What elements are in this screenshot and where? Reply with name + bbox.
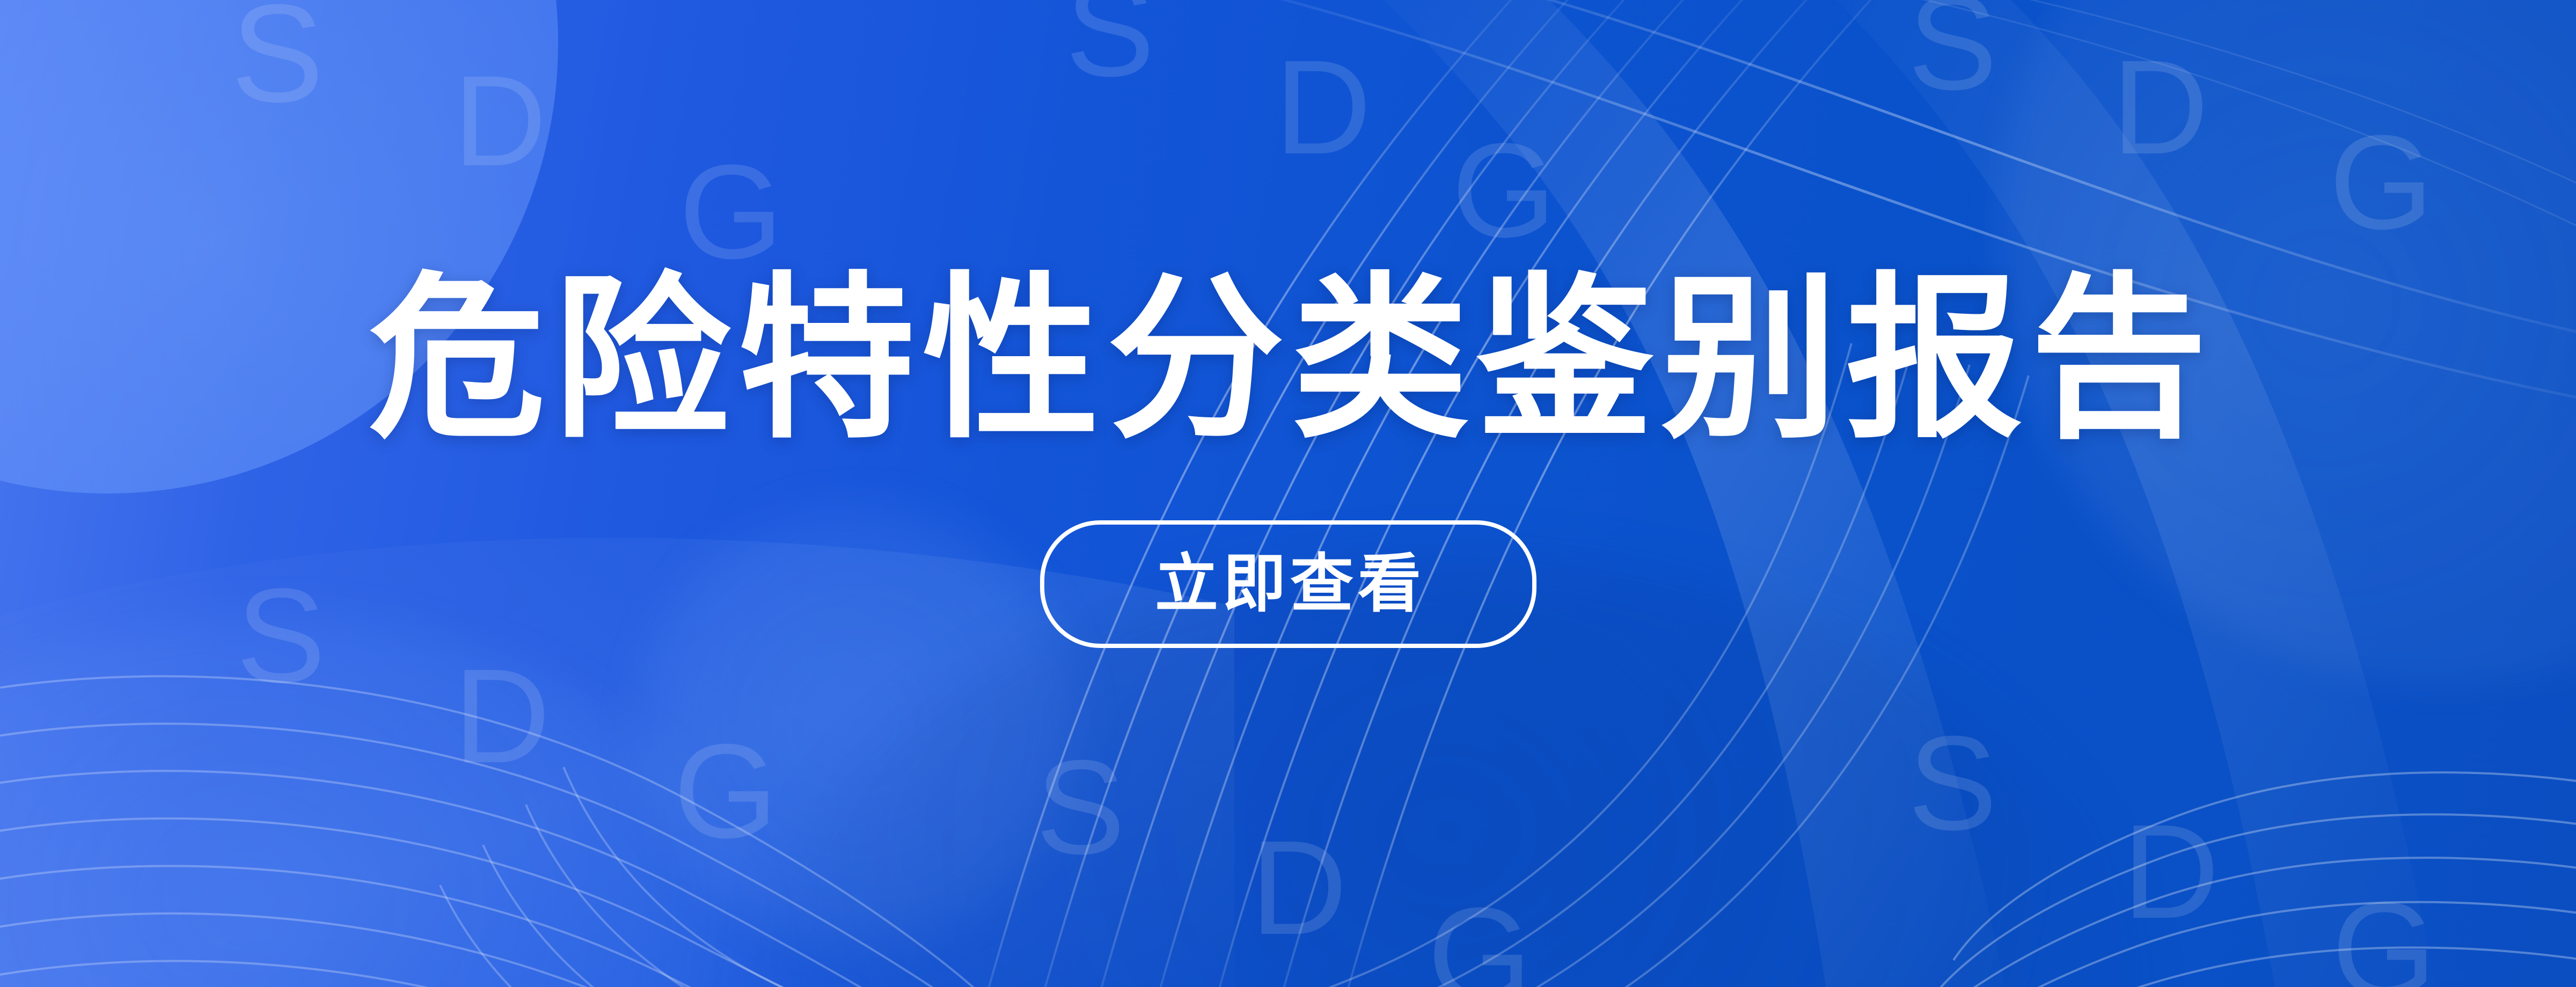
view-now-button-label: 立即查看	[1151, 553, 1425, 616]
promo-banner: SDGSDGSDGSDGSDGSDG 危险特性分类鉴别报告 立即查看	[0, 0, 2576, 987]
banner-content: 危险特性分类鉴别报告 立即查看	[0, 0, 2576, 987]
page-title: 危险特性分类鉴别报告	[361, 264, 2215, 455]
view-now-button[interactable]: 立即查看	[1040, 520, 1536, 648]
